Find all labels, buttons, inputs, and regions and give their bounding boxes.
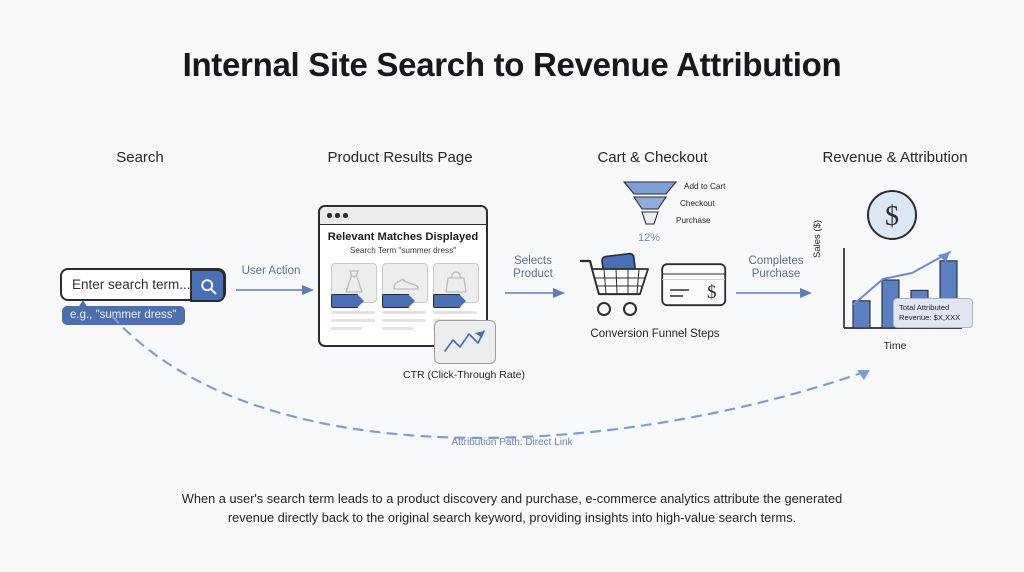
- magnifier-icon: [200, 278, 218, 296]
- search-input[interactable]: Enter search term...: [60, 268, 226, 301]
- results-subtitle: Search Term "summer dress": [320, 246, 486, 255]
- attribution-path-label: Attribution Path: Direct Link: [432, 437, 592, 448]
- attribution-path-curve: [100, 310, 900, 450]
- svg-text:$: $: [885, 201, 899, 232]
- revenue-tooltip: Total Attributed Revenue: $X,XXX: [893, 298, 973, 328]
- arrow-label-selects-product: Selects Product: [500, 255, 566, 281]
- funnel-icon: [622, 180, 678, 230]
- arrow-user-action: [236, 282, 316, 298]
- arrow-label-user-action: User Action: [226, 265, 316, 278]
- dollar-circle-icon: $: [866, 189, 918, 241]
- chart-y-axis-label: Sales ($): [812, 220, 823, 258]
- window-dot-maximize: [343, 213, 348, 218]
- stage-heading-revenue: Revenue & Attribution: [800, 149, 990, 166]
- stage-heading-search: Search: [60, 149, 220, 166]
- browser-titlebar: [320, 207, 486, 225]
- diagram-canvas: Internal Site Search to Revenue Attribut…: [0, 0, 1024, 572]
- price-tag-icon: [433, 294, 460, 308]
- funnel-conversion-rate: 12%: [638, 232, 660, 244]
- search-input-value: Enter search term...: [72, 277, 191, 292]
- funnel-step-label: Add to Cart: [684, 182, 725, 191]
- price-tag-icon: [382, 294, 409, 308]
- search-button[interactable]: [190, 269, 225, 302]
- arrow-label-completes-purchase: Completes Purchase: [737, 255, 815, 281]
- funnel-step-label: Purchase: [676, 216, 711, 225]
- price-tag-icon: [331, 294, 358, 308]
- arrow-completes-purchase: [736, 285, 814, 301]
- footer-caption: When a user's search term leads to a pro…: [180, 489, 844, 527]
- funnel-step-label: Checkout: [680, 199, 715, 208]
- arrow-selects-product: [505, 285, 567, 301]
- stage-heading-cart: Cart & Checkout: [565, 149, 740, 166]
- conversion-funnel: Add to Cart Checkout Purchase 12%: [622, 180, 678, 235]
- tooltip-line-1: Total Attributed: [899, 303, 967, 313]
- results-title: Relevant Matches Displayed: [320, 231, 486, 243]
- svg-text:$: $: [707, 282, 717, 303]
- page-title: Internal Site Search to Revenue Attribut…: [0, 46, 1024, 84]
- stage-heading-results: Product Results Page: [300, 149, 500, 166]
- upward-trend-arrow-icon: [854, 252, 950, 304]
- window-dot-minimize: [335, 213, 340, 218]
- window-dot-close: [327, 213, 332, 218]
- credit-card-icon: $: [661, 263, 727, 307]
- tooltip-line-2: Revenue: $X,XXX: [899, 313, 967, 323]
